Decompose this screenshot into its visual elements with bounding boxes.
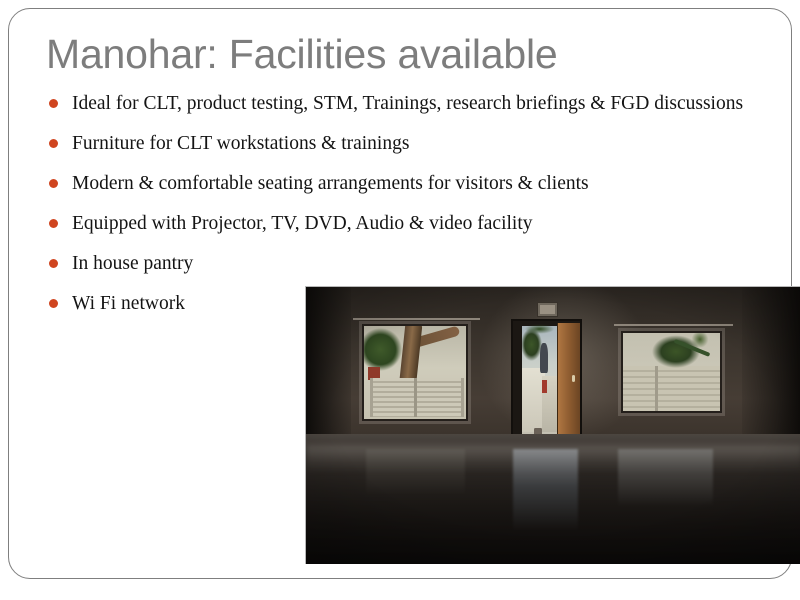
list-item: Equipped with Projector, TV, DVD, Audio …: [40, 210, 785, 237]
list-item-label: Equipped with Projector, TV, DVD, Audio …: [72, 210, 784, 237]
window-pane: [623, 333, 719, 411]
reflection-window-right: [618, 449, 712, 507]
exterior-red-object: [542, 380, 547, 392]
list-item-label: In house pantry: [72, 250, 502, 277]
list-item-label: Modern & comfortable seating arrangement…: [72, 170, 784, 197]
list-item: Ideal for CLT, product testing, STM, Tra…: [40, 90, 785, 117]
reflection-doorway: [513, 449, 577, 532]
bullet-dot-icon: [49, 259, 58, 268]
door-garland: [521, 323, 558, 335]
list-item-label: Furniture for CLT workstations & trainin…: [72, 130, 502, 157]
slat-fence: [370, 378, 464, 417]
compound-wall: [623, 366, 719, 411]
wall-picture-frame: [537, 302, 558, 318]
door-handle-icon: [572, 375, 575, 382]
room-photograph: [305, 286, 800, 564]
foliage: [364, 328, 403, 371]
curtain-rod-left: [353, 318, 479, 320]
exterior-figure: [540, 343, 548, 373]
window-pane: [364, 326, 466, 419]
bullet-dot-icon: [49, 99, 58, 108]
outdoor-view: [522, 326, 557, 450]
fence-divider: [414, 378, 417, 417]
photo-scene: [306, 287, 800, 564]
presentation-slide: Manohar: Facilities available Ideal for …: [0, 0, 800, 600]
list-item: Furniture for CLT workstations & trainin…: [40, 130, 785, 157]
page-title: Manohar: Facilities available: [46, 27, 746, 83]
curtain-rod-right: [614, 324, 733, 326]
list-item: In house pantry: [40, 250, 785, 277]
window-left: [362, 324, 468, 421]
list-item: Modern & comfortable seating arrangement…: [40, 170, 785, 197]
bullet-dot-icon: [49, 219, 58, 228]
bullet-dot-icon: [49, 139, 58, 148]
window-right: [621, 331, 721, 413]
reflection-window-left: [366, 449, 465, 496]
wooden-door-leaf: [557, 323, 580, 449]
open-doorway: [511, 319, 582, 452]
bullet-dot-icon: [49, 299, 58, 308]
wall-edge: [655, 366, 658, 411]
list-item-label: Ideal for CLT, product testing, STM, Tra…: [72, 90, 784, 117]
picture-inner: [540, 305, 555, 315]
bullet-dot-icon: [49, 179, 58, 188]
